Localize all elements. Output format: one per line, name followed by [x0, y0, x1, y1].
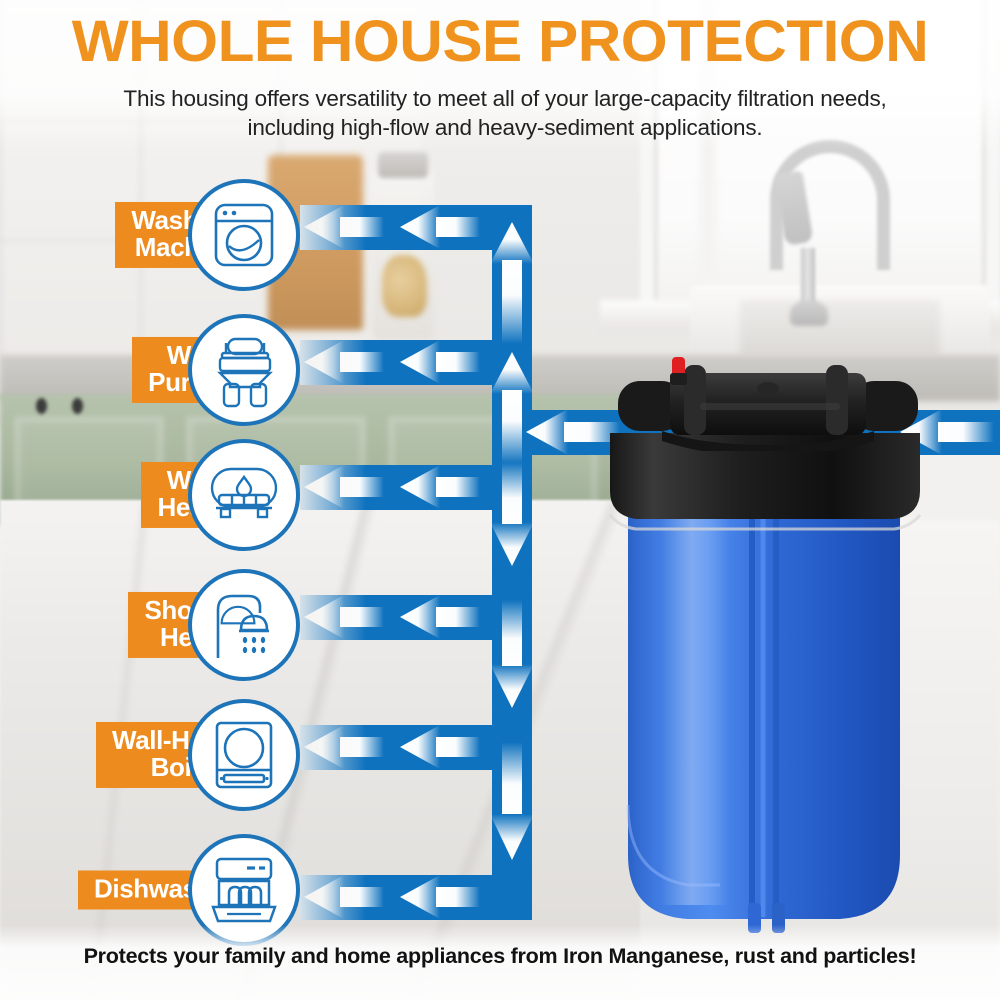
infographic-canvas: Washing Machine Water Purifier — [0, 0, 1000, 1000]
housing-cap-manifold — [618, 365, 918, 451]
flow-arrows-dishwasher — [296, 870, 506, 925]
trunk-down-arrow-middle — [488, 600, 536, 722]
wall-hung-boiler-icon — [188, 699, 300, 811]
page-subtitle: This housing offers versatility to meet … — [110, 84, 900, 143]
pressure-relief-button-icon[interactable] — [666, 355, 692, 389]
appliance-row-shower-heads[interactable]: Shower Heads — [0, 565, 310, 685]
appliance-row-washing-machine[interactable]: Washing Machine — [0, 175, 310, 295]
background-faucet-base — [790, 300, 828, 326]
trunk-down-arrow-lower — [488, 742, 536, 874]
shower-head-icon — [188, 569, 300, 681]
background-sink-basin — [740, 300, 940, 355]
flow-arrows-washing-machine — [296, 200, 506, 255]
flow-arrows-water-heater — [296, 460, 506, 515]
appliance-row-water-purifier[interactable]: Water Purifier — [0, 310, 310, 430]
background-jar-lid — [378, 152, 428, 178]
flow-arrows-wall-hung-boilers — [296, 720, 506, 775]
big-blue-filter-housing — [600, 355, 930, 950]
water-purifier-icon — [188, 314, 300, 426]
washing-machine-icon — [188, 179, 300, 291]
trunk-up-arrow-upper — [488, 218, 536, 348]
water-heater-icon — [188, 439, 300, 551]
appliance-row-wall-hung-boilers[interactable]: Wall-Hung Boilers — [0, 695, 310, 815]
page-title: WHOLE HOUSE PROTECTION — [0, 8, 1000, 75]
housing-blue-sump — [600, 505, 930, 950]
appliance-row-water-heater[interactable]: Water Heater — [0, 435, 310, 555]
flow-arrows-shower-heads — [296, 590, 506, 645]
background-jar-contents — [382, 255, 427, 317]
footer-tagline: Protects your family and home appliances… — [0, 944, 1000, 969]
flow-arrows-water-purifier — [296, 335, 506, 390]
trunk-down-arrow-upper — [488, 462, 536, 580]
